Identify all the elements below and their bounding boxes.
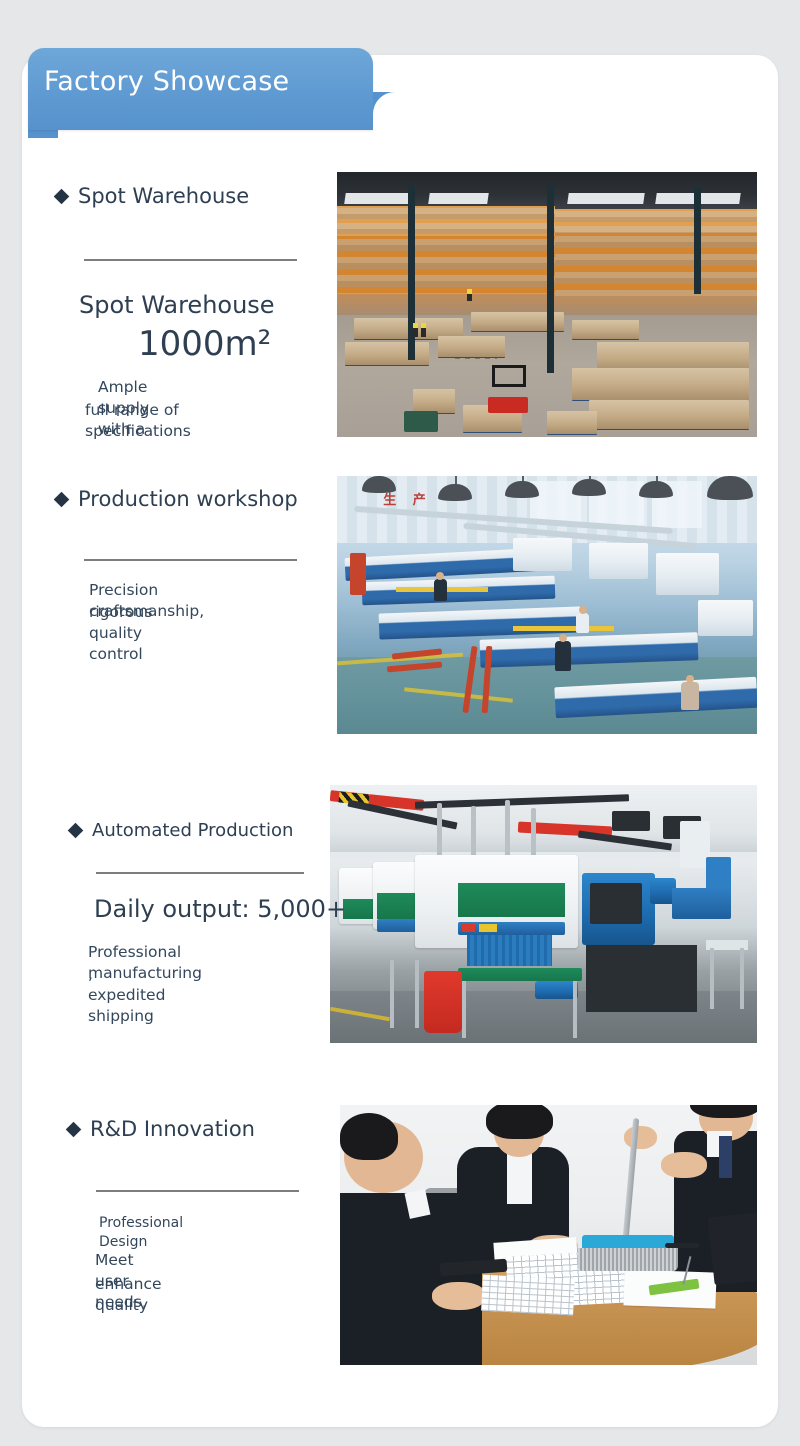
section-heading-2: Production workshop [78,487,298,511]
section-heading-row-3: Automated Production [70,820,293,841]
section-title-1: Spot Warehouse [79,291,275,319]
banner-corner-curve [373,92,411,130]
section-heading-row-4: R&D Innovation [68,1117,255,1141]
divider-1 [84,259,297,261]
divider-4 [96,1190,299,1192]
section-desc-1-line-2: full range of specifications [85,400,191,442]
section-heading-3: Automated Production [92,820,293,841]
banner: Factory Showcase [28,48,373,130]
section-desc-2-line-2: rigorous quality control [89,602,152,665]
page-title: Factory Showcase [44,66,289,97]
section-metric-1: 1000m² [138,324,271,364]
diamond-icon [54,188,70,204]
factory-showcase-page: Factory Showcase [0,0,800,1446]
section-title-4: Professional Design [99,1214,183,1252]
section-image-warehouse [337,172,757,437]
section-image-workshop: 生 产 [337,476,757,734]
diamond-icon [66,1121,82,1137]
section-heading-1: Spot Warehouse [78,184,249,208]
diamond-icon [54,491,70,507]
section-heading-row-2: Production workshop [56,487,298,511]
section-desc-4-line-2: enhance quality [95,1274,162,1316]
divider-2 [84,559,297,561]
section-image-automation [330,785,757,1043]
diamond-icon [68,823,84,839]
divider-3 [96,872,304,874]
section-metric-3: Daily output: 5,000+ [94,895,346,923]
section-desc-3-line-2: , expedited shipping [88,964,165,1027]
section-heading-row-1: Spot Warehouse [56,184,249,208]
section-image-rnd-meeting [340,1105,757,1365]
section-heading-4: R&D Innovation [90,1117,255,1141]
